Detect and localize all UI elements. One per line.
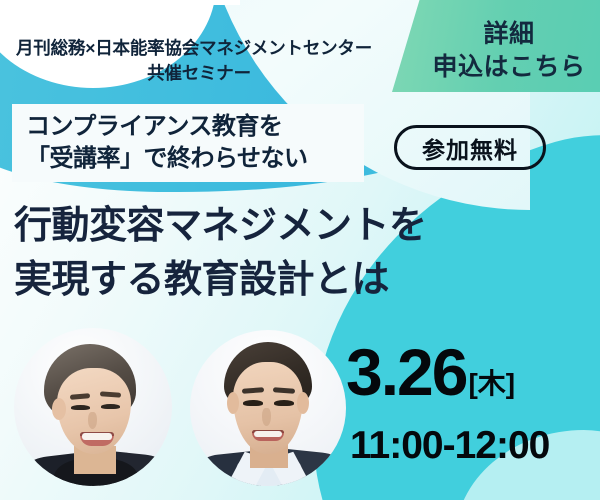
subheadline-panel: コンプライアンス教育を 「受講率」で終わらせない: [12, 104, 364, 182]
cta-line-2: 申込はこちら: [418, 51, 600, 84]
free-admission-badge: 参加無料: [394, 125, 546, 170]
cta-text[interactable]: 詳細 申込はこちら: [418, 18, 600, 84]
event-time: 11:00-12:00: [350, 424, 549, 468]
event-day-of-week: [木]: [466, 370, 515, 405]
speaker-photo-right: [190, 330, 346, 486]
seminar-banner: 詳細 申込はこちら 月刊総務×日本能率協会マネジメントセンター 共催セミナー コ…: [0, 0, 600, 500]
speaker-right-lapel-pin: [308, 476, 315, 483]
speaker-left-ear: [52, 398, 66, 420]
header-white-fill: [0, 0, 240, 5]
page-title: 行動変容マネジメントを 実現する教育設計とは: [14, 200, 427, 308]
speaker-left-nose: [88, 412, 97, 429]
cohost-line-1: 月刊総務×日本能率協会マネジメントセンター: [8, 36, 414, 61]
speaker-left-teeth: [82, 433, 112, 440]
speaker-right-nose: [262, 408, 271, 426]
subheadline-line-2: 「受講率」で終わらせない: [26, 143, 308, 175]
speaker-photo-left: [14, 328, 172, 486]
speaker-right-eye-1: [243, 400, 263, 406]
headline-line-1: 行動変容マネジメントを: [14, 200, 427, 254]
speaker-left-eye-2: [101, 404, 120, 409]
cohost-line-2: 共催セミナー: [8, 61, 414, 86]
speaker-right-teeth: [254, 431, 282, 437]
event-date: 3.26 [木]: [346, 340, 515, 405]
speaker-right-ear-left: [227, 392, 239, 414]
headline-line-2: 実現する教育設計とは: [14, 254, 427, 308]
cta-line-1: 詳細: [418, 18, 600, 51]
subheadline-text: コンプライアンス教育を 「受講率」で終わらせない: [26, 111, 308, 176]
speaker-left-eye-1: [71, 405, 90, 410]
subheadline-line-1: コンプライアンス教育を: [26, 111, 308, 143]
speaker-right-eye-2: [274, 400, 294, 406]
speaker-right-ear-right: [297, 392, 309, 414]
event-date-number: 3.26: [346, 340, 466, 405]
free-admission-label: 参加無料: [397, 128, 543, 167]
cohost-text: 月刊総務×日本能率協会マネジメントセンター 共催セミナー: [8, 36, 414, 86]
